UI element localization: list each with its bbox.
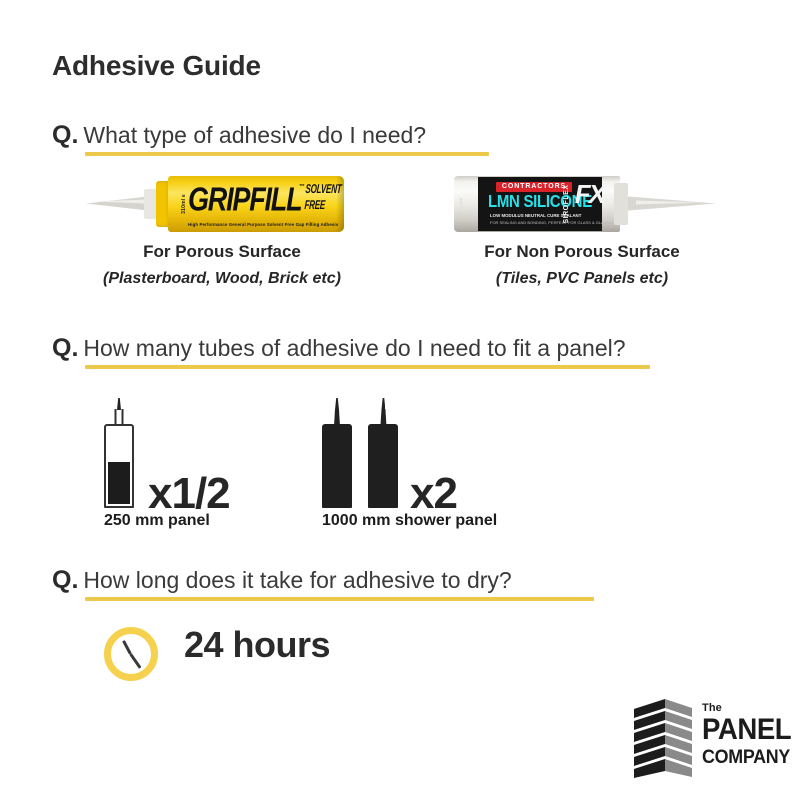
non-porous-surface-caption: For Non Porous Surface (Tiles, PVC Panel…: [402, 242, 762, 288]
question-3-underline: [85, 597, 594, 601]
gripfill-tagline: SOLVENTFREE: [304, 182, 342, 214]
porous-surface-title: For Porous Surface: [42, 242, 402, 262]
gripfill-fine-print: High Performance General Purpose Solvent…: [188, 222, 338, 227]
non-porous-surface-title: For Non Porous Surface: [402, 242, 762, 262]
quantity-multiplier-250mm: x1/2: [148, 472, 230, 516]
gripfill-trademark-icon: ™: [299, 184, 305, 190]
porous-surface-examples: (Plasterboard, Wood, Brick etc): [42, 270, 402, 288]
silicone-body: 310ml CONTRACTORS LMN SILICONE LOW MODUL…: [454, 176, 620, 232]
tube-half-icon: [104, 398, 134, 510]
gripfill-brand-label: GRIPFILL: [188, 183, 301, 217]
the-panel-company-logo: The PANEL COMPANY: [632, 697, 788, 785]
quantity-caption-1000mm: 1000 mm shower panel: [322, 512, 497, 530]
question-2-marker: Q.: [52, 334, 78, 363]
drying-time-answer: 24 hours: [184, 624, 330, 666]
question-1-text: What type of adhesive do I need?: [83, 122, 426, 149]
question-1-marker: Q.: [52, 121, 78, 150]
quantity-multiplier-1000mm: x2: [410, 472, 457, 516]
gripfill-side-text: 310ml e: [181, 194, 187, 214]
logo-wordmark: The PANEL COMPANY: [702, 703, 799, 767]
adhesive-guide-infographic: Adhesive Guide Q.What type of adhesive d…: [0, 0, 800, 800]
question-2-text: How many tubes of adhesive do I need to …: [83, 335, 625, 362]
silicone-sub-text-2: FOR SEALING AND BONDING, PERFECT FOR GLA…: [490, 220, 613, 225]
question-1-underline: [85, 152, 489, 156]
non-porous-surface-examples: (Tiles, PVC Panels etc): [402, 270, 762, 288]
page-title: Adhesive Guide: [52, 50, 261, 82]
silicone-nozzle-icon: [624, 197, 716, 212]
question-2: Q.How many tubes of adhesive do I need t…: [52, 334, 626, 363]
quantity-caption-250mm: 250 mm panel: [104, 512, 210, 530]
tube-full-icon-1: [322, 398, 352, 510]
question-1: Q.What type of adhesive do I need?: [52, 121, 426, 150]
porous-surface-caption: For Porous Surface (Plasterboard, Wood, …: [42, 242, 402, 288]
logo-line-company: COMPANY: [702, 748, 793, 767]
silicone-fx-mark: FX: [575, 181, 604, 207]
silicone-siroflex-label: SIROFLEX: [563, 184, 570, 223]
silicone-label-panel: CONTRACTORS LMN SILICONE LOW MODULUS NEU…: [478, 177, 602, 231]
gripfill-body: 310ml e GRIPFILL ™ SOLVENTFREE High Perf…: [168, 176, 344, 232]
tube-full-icon-2: [368, 398, 398, 510]
clock-icon: [104, 627, 158, 681]
quantity-group-250mm: x1/2: [104, 398, 134, 510]
gripfill-tube-image: 310ml e GRIPFILL ™ SOLVENTFREE High Perf…: [86, 176, 344, 232]
question-3-text: How long does it take for adhesive to dr…: [83, 567, 511, 594]
quantity-group-1000mm: x2: [322, 398, 398, 510]
silicone-side-text: 310ml: [459, 198, 464, 210]
panel-stack-icon: [632, 699, 694, 781]
silicone-contractors-banner: CONTRACTORS: [496, 182, 572, 192]
question-3: Q.How long does it take for adhesive to …: [52, 566, 512, 595]
drying-answer-group: 24 hours: [104, 624, 524, 688]
logo-line-panel: PANEL: [702, 716, 791, 745]
silicone-tube-image: 310ml CONTRACTORS LMN SILICONE LOW MODUL…: [454, 176, 716, 232]
question-3-marker: Q.: [52, 566, 78, 595]
question-2-underline: [85, 365, 650, 369]
